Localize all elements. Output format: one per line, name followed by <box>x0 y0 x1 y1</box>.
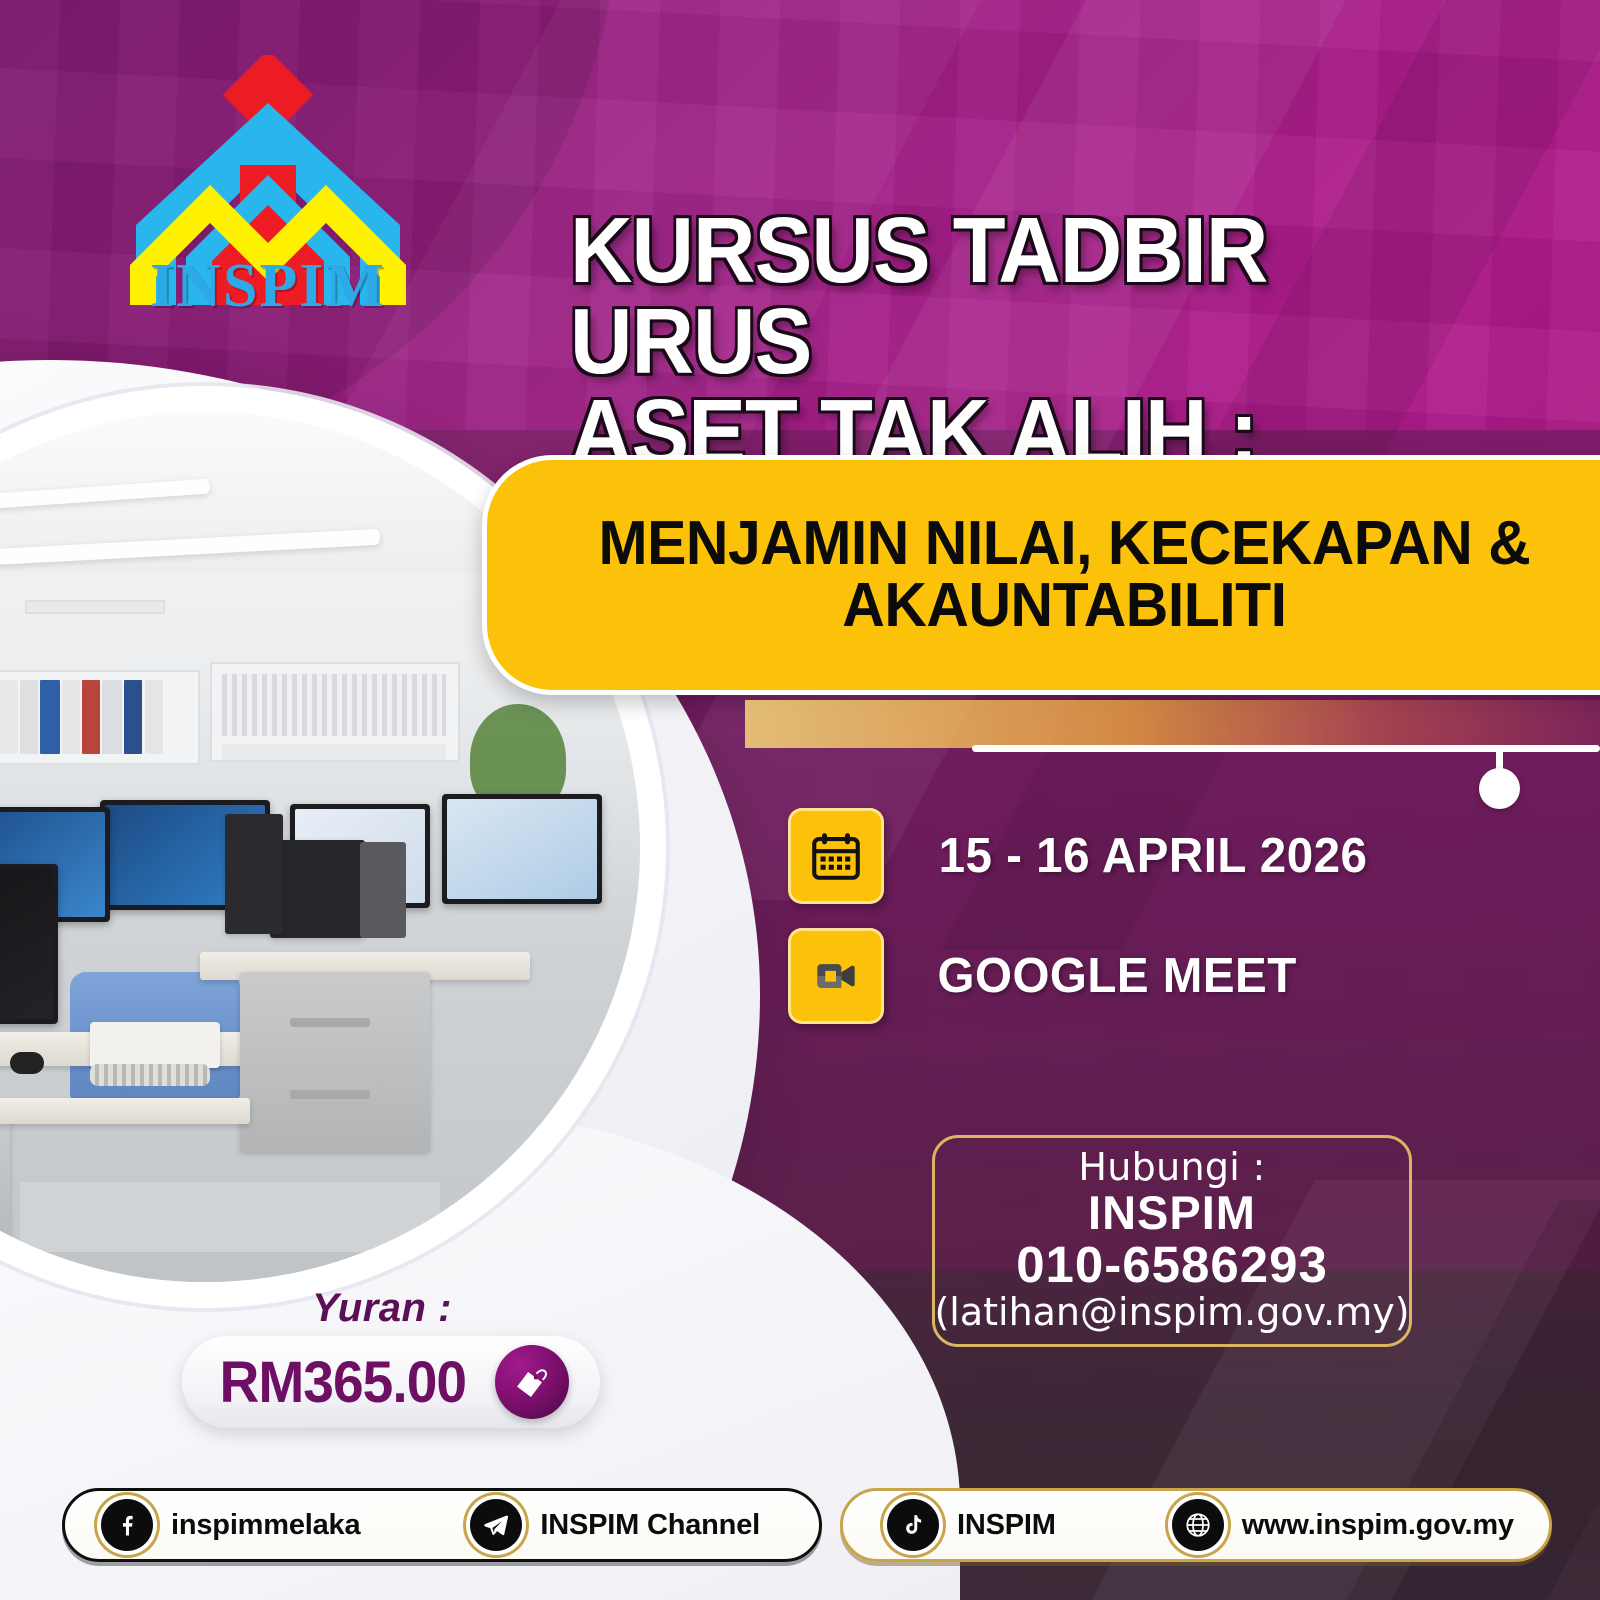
fee-amount: RM365.00 <box>220 1349 467 1416</box>
facebook-icon <box>101 1499 153 1551</box>
footer-bar-left: inspimmelaka INSPIM Channel <box>62 1488 822 1562</box>
decorative-gradient-strip <box>745 700 1600 748</box>
globe-icon <box>1172 1499 1224 1551</box>
telegram-icon <box>470 1499 522 1551</box>
subtitle-text: MENJAMIN NILAI, KECEKAPAN & AKAUNTABILIT… <box>599 513 1531 637</box>
inspim-logo: INSPIM <box>118 55 418 355</box>
title-line-1: KURSUS TADBIR URUS <box>570 205 1509 387</box>
decorative-white-rule <box>972 745 1600 752</box>
info-row-date: 15 - 16 APRIL 2026 <box>788 808 1374 904</box>
logo-wordmark: INSPIM <box>118 251 418 322</box>
social-telegram[interactable]: INSPIM Channel <box>460 1499 770 1551</box>
info-row-platform: GOOGLE MEET <box>788 928 1302 1024</box>
fee-pill: RM365.00 <box>182 1336 600 1428</box>
date-label: 15 - 16 APRIL 2026 <box>939 828 1368 884</box>
poster-canvas: INSPIM KURSUS TADBIR URUS ASET TAK ALIH … <box>0 0 1600 1600</box>
website-label: www.inspim.gov.my <box>1242 1509 1514 1542</box>
calendar-icon <box>788 808 884 904</box>
footer-bar-right: INSPIM www.inspim.gov.my <box>840 1488 1552 1562</box>
contact-lead: Hubungi : <box>1078 1148 1265 1188</box>
subtitle-line-2: AKAUNTABILITI <box>599 575 1531 637</box>
social-tiktok[interactable]: INSPIM <box>877 1499 1066 1551</box>
platform-label: GOOGLE MEET <box>938 948 1297 1004</box>
social-website[interactable]: www.inspim.gov.my <box>1162 1499 1524 1551</box>
contact-email: (latihan@inspim.gov.my) <box>934 1292 1409 1334</box>
fee-label: Yuran : <box>222 1286 542 1331</box>
contact-org: INSPIM <box>1088 1188 1256 1239</box>
social-facebook[interactable]: inspimmelaka <box>91 1499 370 1551</box>
tiktok-icon <box>887 1499 939 1551</box>
price-tag-icon <box>495 1345 569 1419</box>
contact-phone: 010-6586293 <box>1016 1238 1328 1292</box>
subtitle-banner: MENJAMIN NILAI, KECEKAPAN & AKAUNTABILIT… <box>482 455 1600 695</box>
tiktok-label: INSPIM <box>957 1509 1056 1542</box>
page-title: KURSUS TADBIR URUS ASET TAK ALIH : <box>570 205 1509 478</box>
contact-box: Hubungi : INSPIM 010-6586293 (latihan@in… <box>932 1135 1412 1347</box>
subtitle-line-1: MENJAMIN NILAI, KECEKAPAN & <box>599 513 1531 575</box>
telegram-label: INSPIM Channel <box>540 1509 760 1542</box>
decorative-pin-dot <box>1479 768 1520 809</box>
facebook-label: inspimmelaka <box>171 1509 360 1542</box>
video-camera-icon <box>788 928 884 1024</box>
